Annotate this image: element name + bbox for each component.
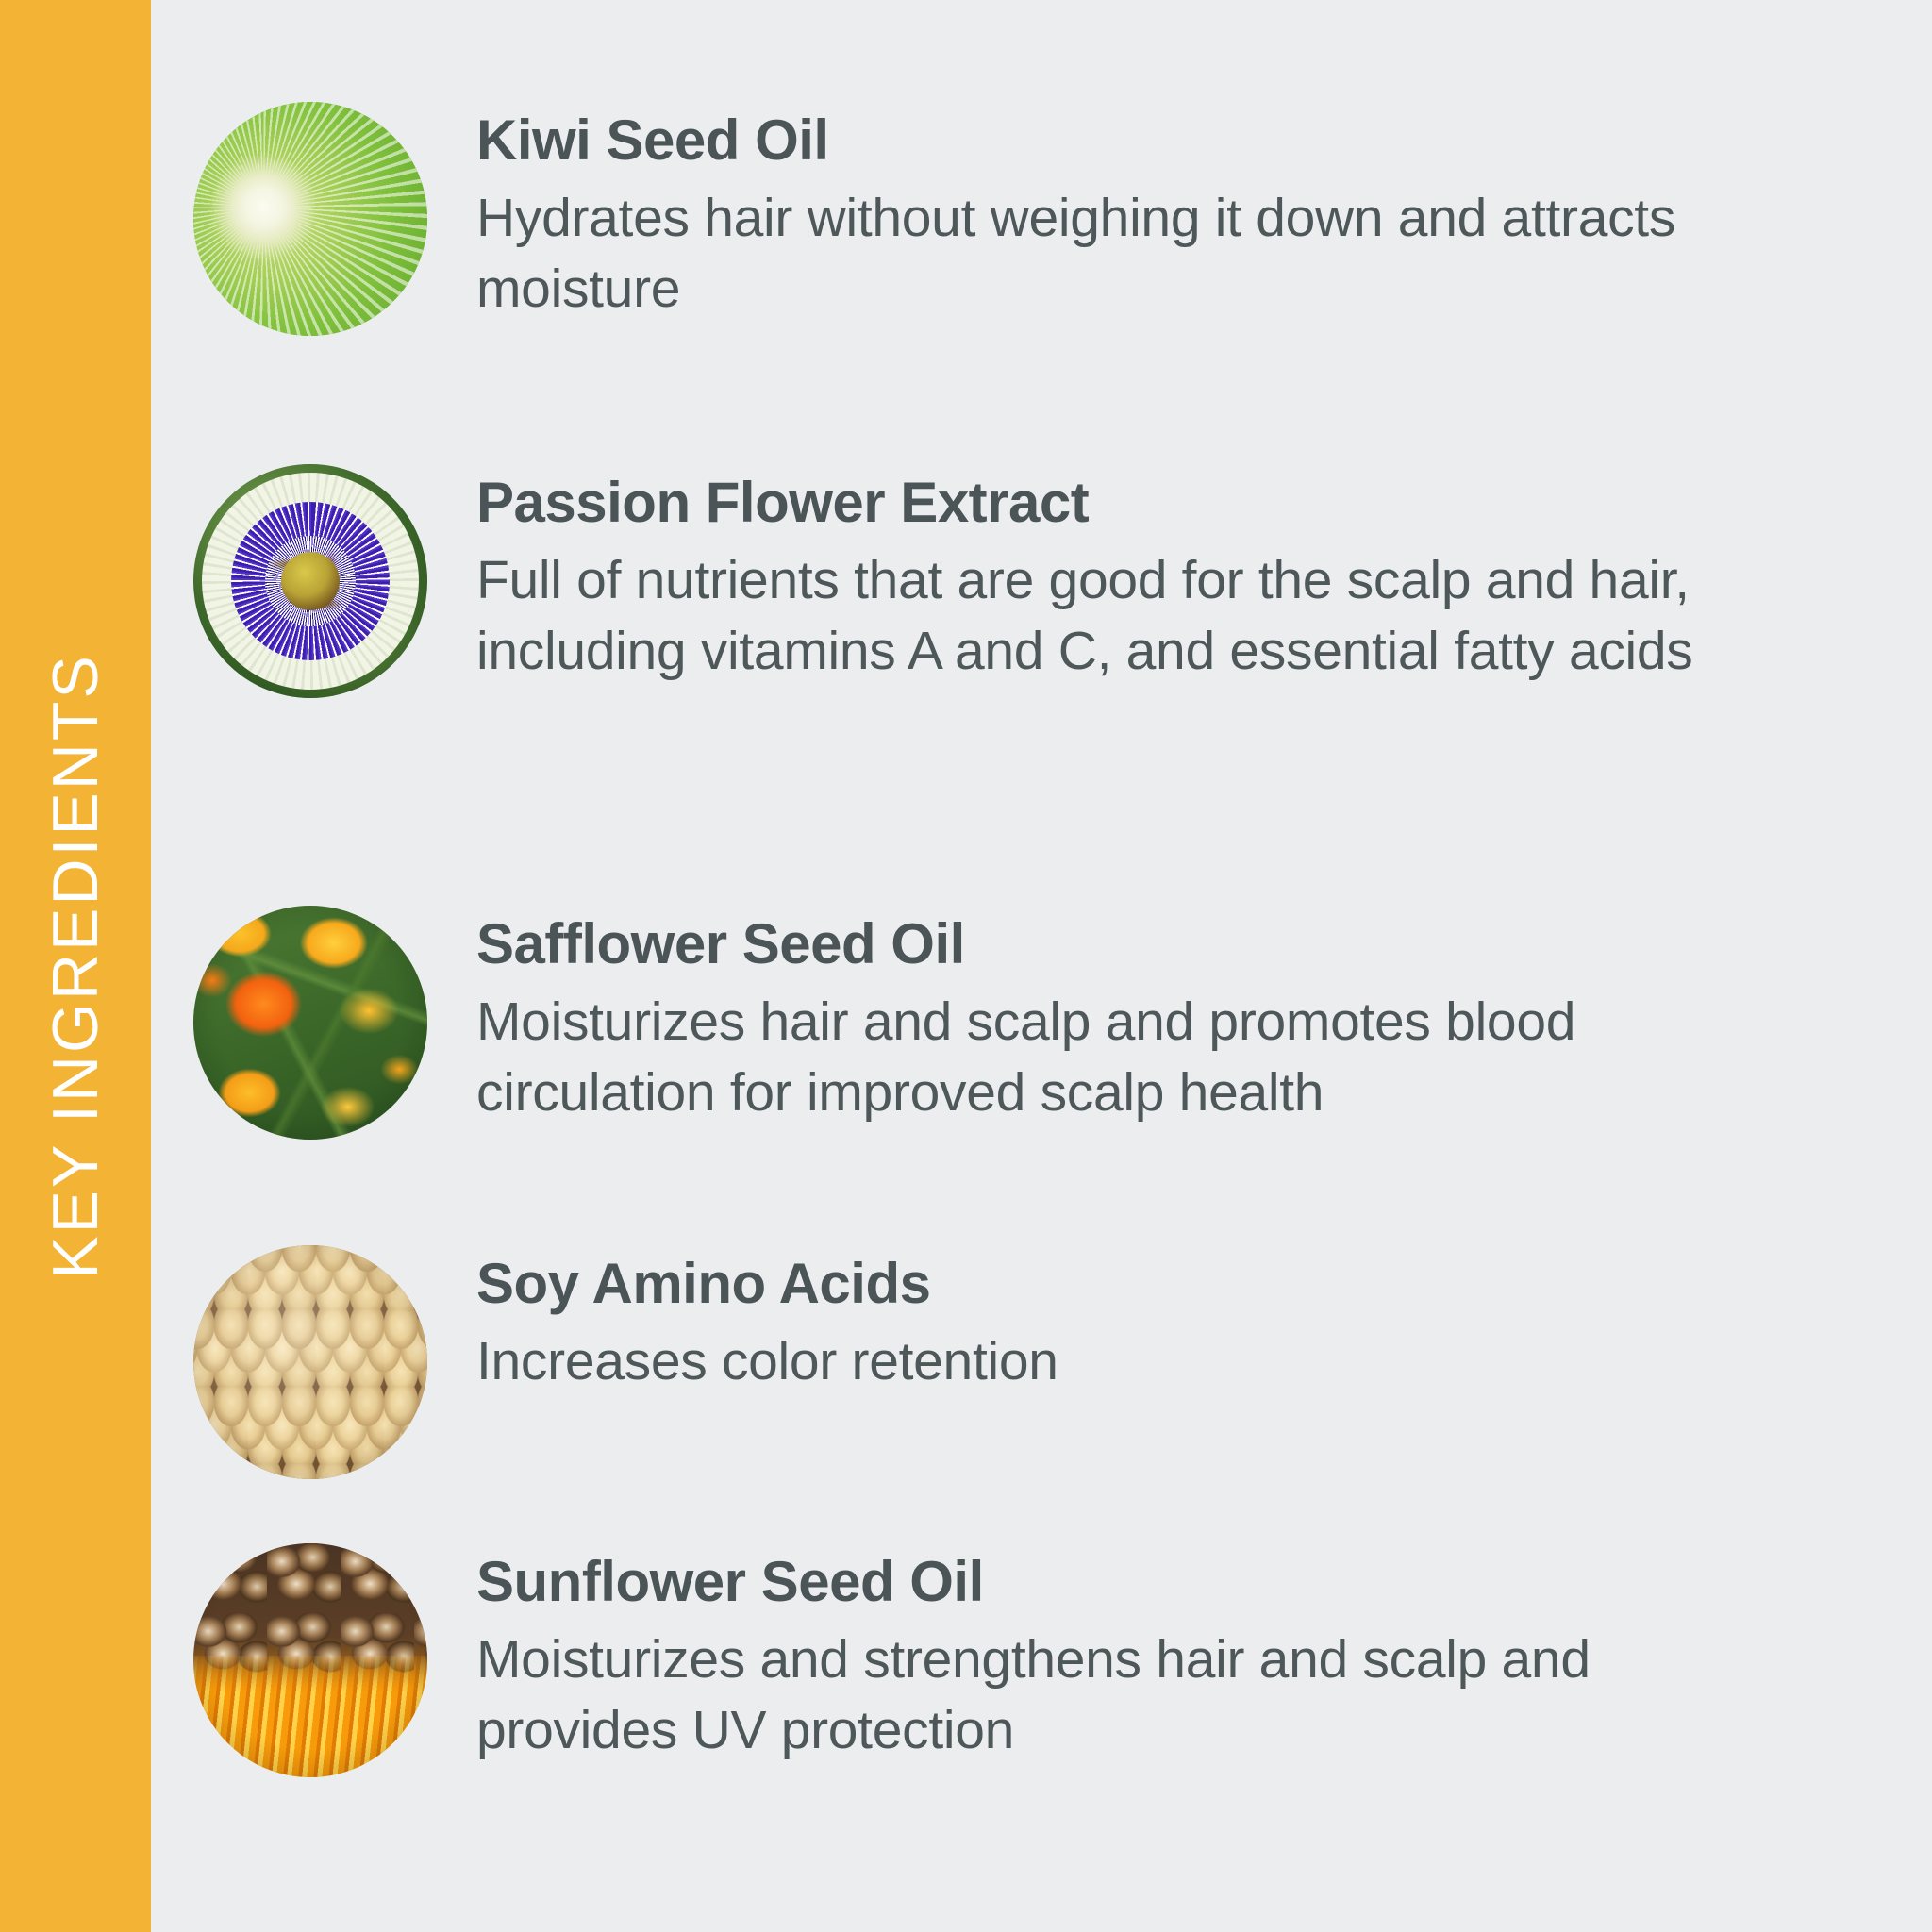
ingredient-item-kiwi-seed-oil: Kiwi Seed Oil Hydrates hair without weig… — [151, 102, 1740, 336]
key-ingredients-panel: KEY INGREDIENTS Kiwi Seed Oil Hydrates h… — [0, 0, 1932, 1932]
passion-flower-photo — [193, 464, 427, 698]
sidebar-accent-bar: KEY INGREDIENTS — [0, 0, 151, 1932]
ingredient-description: Hydrates hair without weighing it down a… — [476, 183, 1740, 326]
sunflower-macro-photo — [193, 1543, 427, 1777]
ingredient-name: Safflower Seed Oil — [476, 911, 1740, 977]
ingredient-description: Moisturizes hair and scalp and promotes … — [476, 987, 1740, 1130]
safflower-flowers-photo — [193, 906, 427, 1140]
ingredient-item-sunflower-seed-oil: Sunflower Seed Oil Moisturizes and stren… — [151, 1543, 1740, 1777]
ingredient-text-block: Passion Flower Extract Full of nutrients… — [476, 464, 1740, 688]
ingredient-text-block: Safflower Seed Oil Moisturizes hair and … — [476, 906, 1740, 1129]
ingredient-item-passion-flower-extract: Passion Flower Extract Full of nutrients… — [151, 464, 1740, 698]
ingredient-text-block: Sunflower Seed Oil Moisturizes and stren… — [476, 1543, 1740, 1767]
ingredient-text-block: Soy Amino Acids Increases color retentio… — [476, 1245, 1058, 1397]
ingredient-description: Increases color retention — [476, 1326, 1058, 1398]
ingredient-name: Sunflower Seed Oil — [476, 1549, 1740, 1615]
ingredient-description: Full of nutrients that are good for the … — [476, 545, 1740, 689]
kiwi-slice-photo — [193, 102, 427, 336]
ingredient-description: Moisturizes and strengthens hair and sca… — [476, 1624, 1740, 1768]
ingredient-name: Soy Amino Acids — [476, 1251, 1058, 1317]
ingredient-item-soy-amino-acids: Soy Amino Acids Increases color retentio… — [151, 1245, 1058, 1479]
sidebar-vertical-title: KEY INGREDIENTS — [43, 653, 108, 1278]
ingredient-list: Kiwi Seed Oil Hydrates hair without weig… — [151, 0, 1932, 1932]
soybeans-photo — [193, 1245, 427, 1479]
ingredient-name: Passion Flower Extract — [476, 470, 1740, 536]
ingredient-name: Kiwi Seed Oil — [476, 108, 1740, 174]
ingredient-text-block: Kiwi Seed Oil Hydrates hair without weig… — [476, 102, 1740, 325]
ingredient-item-safflower-seed-oil: Safflower Seed Oil Moisturizes hair and … — [151, 906, 1740, 1140]
